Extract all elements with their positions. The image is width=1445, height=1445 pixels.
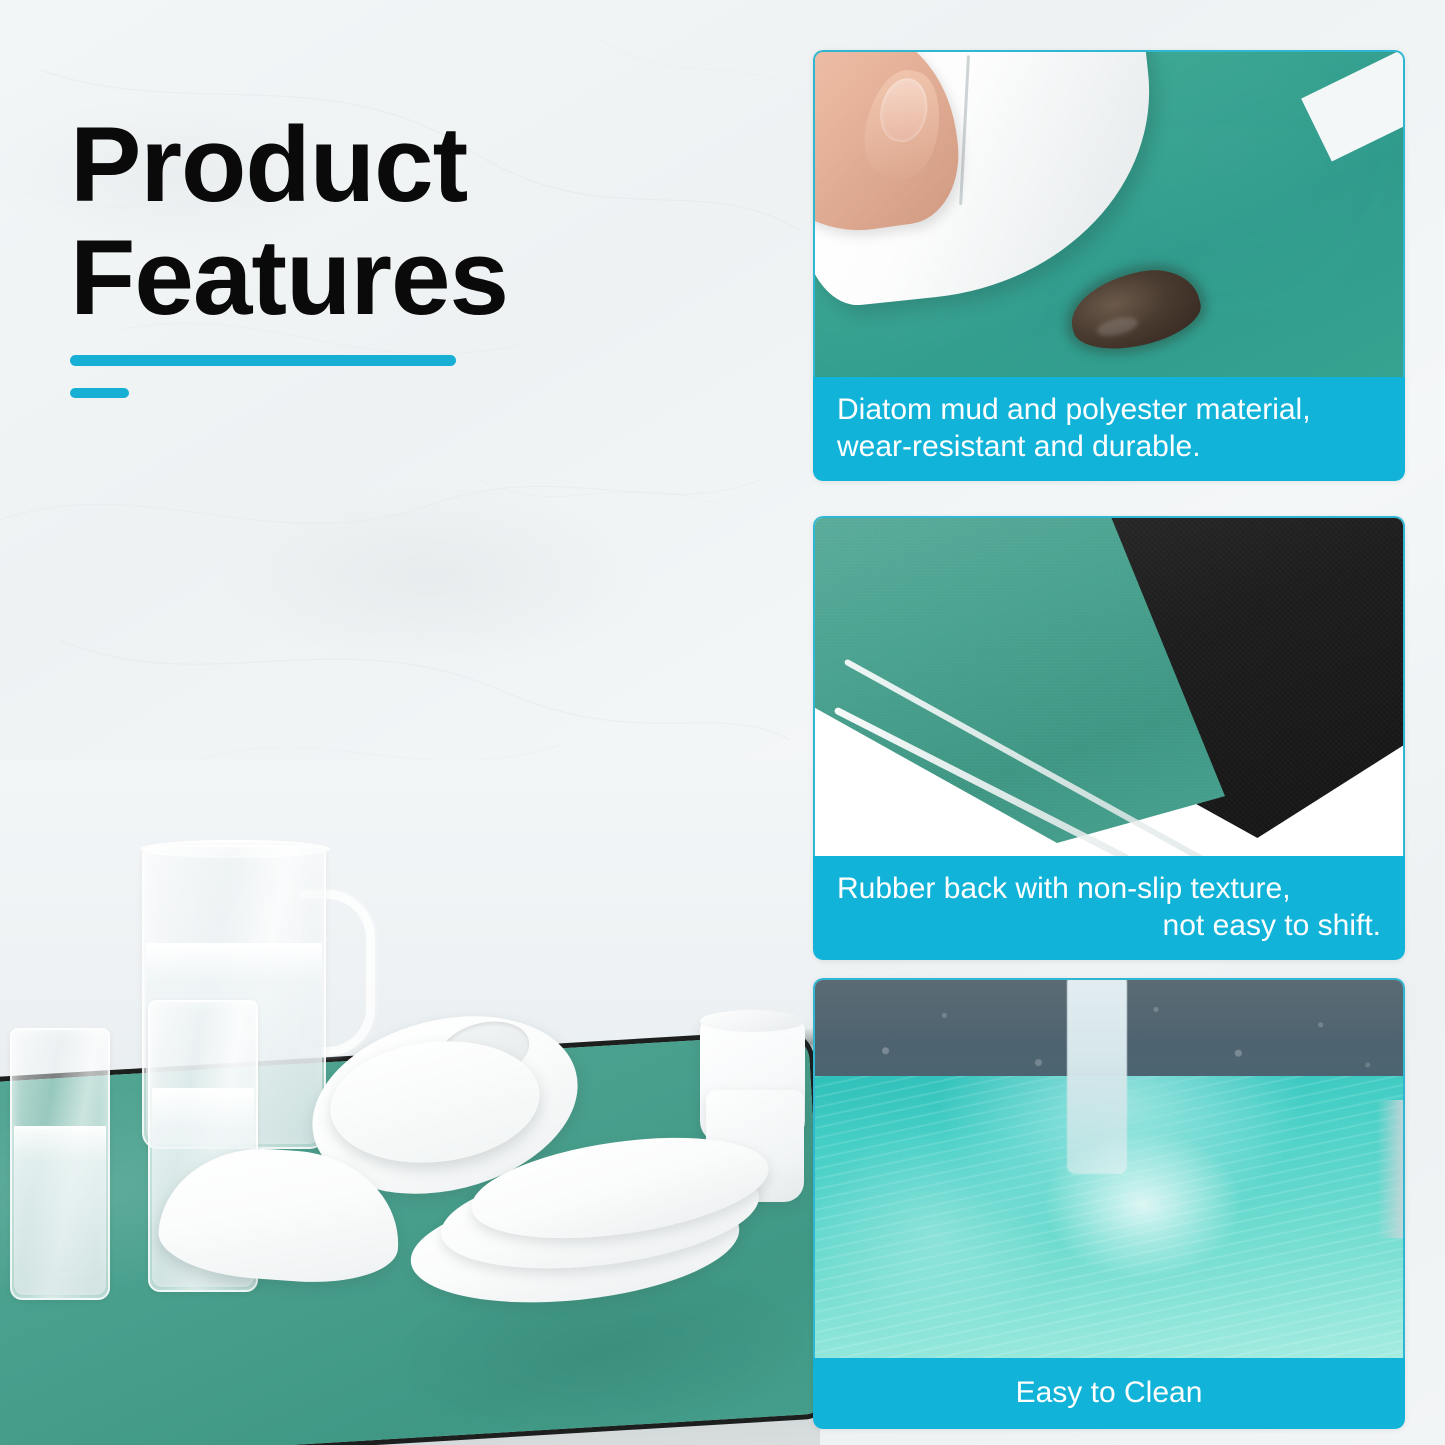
feature-card-durability: Diatom mud and polyester material, wear-… — [813, 50, 1405, 481]
lifestyle-photo — [0, 760, 820, 1445]
feature-card-non-slip: Rubber back with non-slip texture, not e… — [813, 516, 1405, 960]
caption-line-2: wear-resistant and durable. — [837, 428, 1381, 465]
title-underline-long — [70, 355, 456, 366]
product-features-infographic: Product Features — [0, 0, 1445, 1445]
glass-water — [14, 1126, 106, 1295]
title-underline-short — [70, 388, 129, 398]
sink-right-edge — [1377, 1100, 1403, 1238]
cloth-fold-line — [959, 55, 970, 205]
caption-line-1: Easy to Clean — [837, 1374, 1381, 1411]
page-title-line-2: Features — [70, 221, 730, 334]
caption-line-1: Rubber back with non-slip texture, — [837, 870, 1381, 907]
stream-impact-glow — [1043, 1130, 1243, 1280]
feature-image-durability — [813, 50, 1405, 377]
page-title: Product Features — [70, 108, 730, 335]
caption-line-1: Diatom mud and polyester material, — [837, 391, 1381, 428]
feature-image-non-slip — [813, 516, 1405, 856]
feature-image-easy-clean — [813, 978, 1405, 1358]
water-glass — [10, 1028, 110, 1300]
feature-card-easy-clean: Easy to Clean — [813, 978, 1405, 1429]
feature-caption-easy-clean: Easy to Clean — [813, 1358, 1405, 1429]
feature-caption-durability: Diatom mud and polyester material, wear-… — [813, 377, 1405, 481]
caption-line-2: not easy to shift. — [837, 907, 1381, 944]
feature-caption-non-slip: Rubber back with non-slip texture, not e… — [813, 856, 1405, 960]
page-title-line-1: Product — [70, 108, 730, 221]
